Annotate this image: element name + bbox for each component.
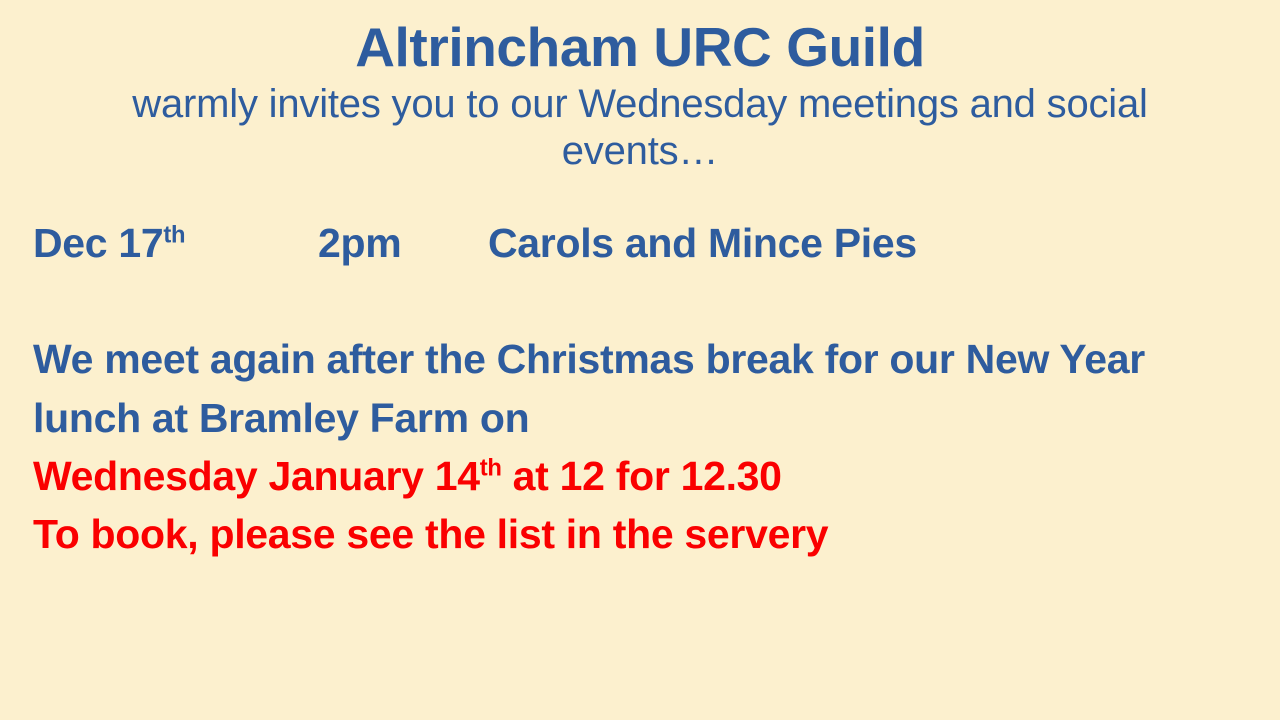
booking-date-suffix: th xyxy=(480,454,502,481)
booking-date-rest: at 12 for 12.30 xyxy=(502,453,782,499)
schedule-date-main: Dec 17 xyxy=(33,220,163,266)
schedule-row: Dec 17th2pmCarols and Mince Pies xyxy=(33,214,1258,272)
booking-date-prefix: Wednesday January 14 xyxy=(33,453,480,499)
page-subtitle: warmly invites you to our Wednesday meet… xyxy=(75,77,1205,175)
schedule-time: 2pm xyxy=(318,214,488,272)
booking-instruction-text: To book, please see the list in the serv… xyxy=(33,511,828,557)
announcement-paragraph: We meet again after the Christmas break … xyxy=(33,330,1233,446)
booking-instruction-line: To book, please see the list in the serv… xyxy=(33,505,1258,563)
slide-canvas: Altrincham URC Guild warmly invites you … xyxy=(0,0,1280,720)
booking-date-line: Wednesday January 14th at 12 for 12.30 xyxy=(33,447,1258,505)
body-block: Dec 17th2pmCarols and Mince Pies We meet… xyxy=(33,214,1258,563)
schedule-description: Carols and Mince Pies xyxy=(488,214,917,272)
title-block: Altrincham URC Guild warmly invites you … xyxy=(0,18,1280,175)
schedule-date-suffix: th xyxy=(163,221,185,248)
schedule-date: Dec 17th xyxy=(33,214,318,272)
page-title: Altrincham URC Guild xyxy=(0,18,1280,77)
